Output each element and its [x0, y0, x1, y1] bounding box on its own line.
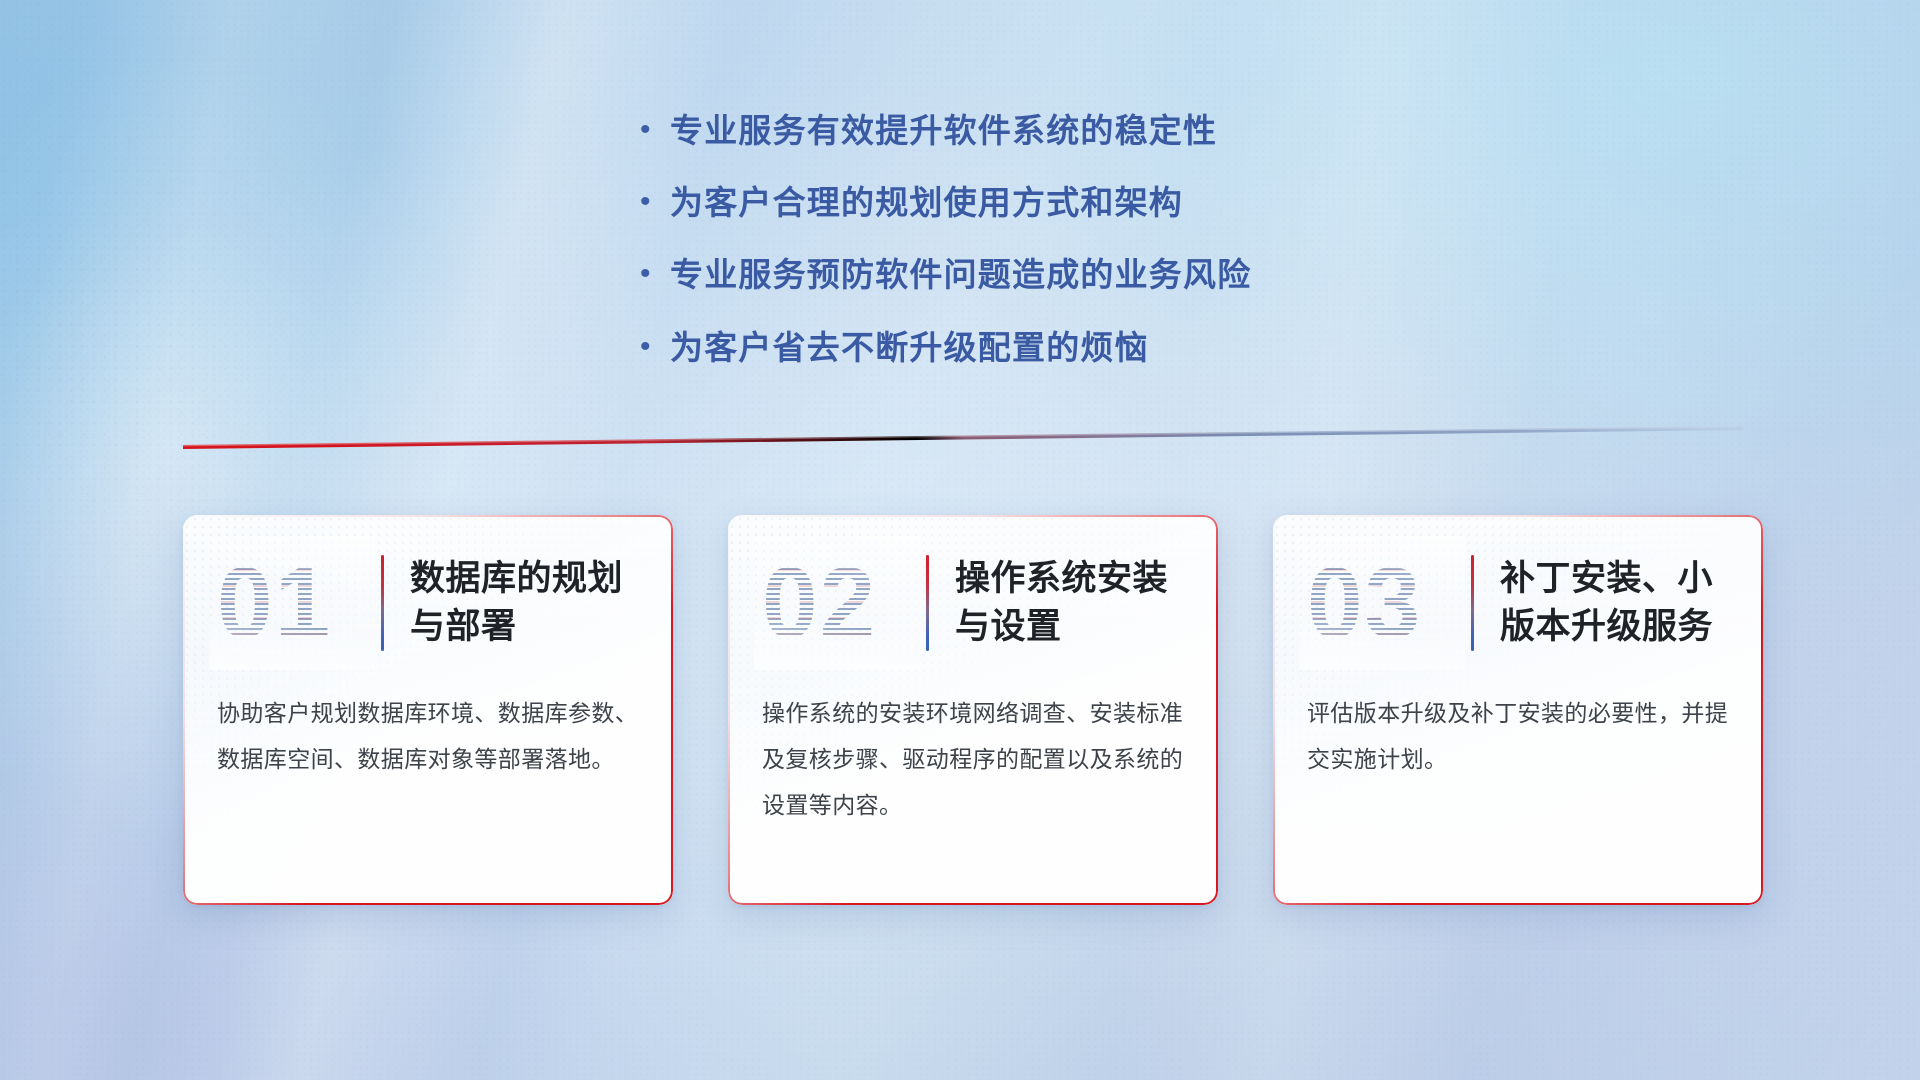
card-number-redtint: 03 [1307, 553, 1422, 653]
bullet-text-3: 专业服务预防软件问题造成的业务风险 [670, 254, 1251, 296]
bullet-text-1: 专业服务有效提升软件系统的稳定性 [670, 110, 1217, 152]
divider-wedge-shape [183, 424, 1743, 450]
card-title-accent-bar [381, 555, 384, 651]
bullet-dot-icon: • [640, 259, 670, 289]
card-number-redtint: 02 [762, 553, 877, 653]
card-header: 02 02 操作系统安装与设置 [728, 515, 1218, 690]
card-number-watermark: 03 03 [1307, 544, 1457, 662]
bullet-dot-icon: • [640, 332, 670, 362]
card-title-accent-bar [1471, 555, 1474, 651]
bullet-text-2: 为客户合理的规划使用方式和架构 [670, 182, 1183, 224]
card-title-accent-bar [926, 555, 929, 651]
bullet-item-1: • 专业服务有效提升软件系统的稳定性 [640, 110, 1400, 152]
service-card-01[interactable]: 01 01 数据库的规划与部署 协助客户规划数据库环境、数据库参数、数据库空间、… [183, 515, 673, 905]
card-header: 03 03 补丁安装、小版本升级服务 [1273, 515, 1763, 690]
card-header: 01 01 数据库的规划与部署 [183, 515, 673, 690]
benefits-bullet-list: • 专业服务有效提升软件系统的稳定性 • 为客户合理的规划使用方式和架构 • 专… [640, 110, 1400, 399]
bullet-item-3: • 专业服务预防软件问题造成的业务风险 [640, 254, 1400, 296]
service-card-02[interactable]: 02 02 操作系统安装与设置 操作系统的安装环境网络调查、安装标准及复核步骤、… [728, 515, 1218, 905]
card-number-redtint: 01 [217, 553, 332, 653]
service-cards-row: 01 01 数据库的规划与部署 协助客户规划数据库环境、数据库参数、数据库空间、… [183, 515, 1763, 905]
bullet-dot-icon: • [640, 115, 670, 145]
card-title: 补丁安装、小版本升级服务 [1500, 555, 1713, 650]
bullet-dot-icon: • [640, 187, 670, 217]
bullet-item-4: • 为客户省去不断升级配置的烦恼 [640, 327, 1400, 369]
card-description: 评估版本升级及补丁安装的必要性，并提交实施计划。 [1273, 690, 1763, 782]
card-number-watermark: 01 01 [217, 544, 367, 662]
service-card-03[interactable]: 03 03 补丁安装、小版本升级服务 评估版本升级及补丁安装的必要性，并提交实施… [1273, 515, 1763, 905]
bullet-text-4: 为客户省去不断升级配置的烦恼 [670, 327, 1149, 369]
card-number-watermark: 02 02 [762, 544, 912, 662]
card-description: 协助客户规划数据库环境、数据库参数、数据库空间、数据库对象等部署落地。 [183, 690, 673, 782]
bullet-item-2: • 为客户合理的规划使用方式和架构 [640, 182, 1400, 224]
card-title: 操作系统安装与设置 [955, 555, 1168, 650]
card-description: 操作系统的安装环境网络调查、安装标准及复核步骤、驱动程序的配置以及系统的设置等内… [728, 690, 1218, 828]
card-title: 数据库的规划与部署 [410, 555, 623, 650]
section-divider [183, 424, 1743, 450]
